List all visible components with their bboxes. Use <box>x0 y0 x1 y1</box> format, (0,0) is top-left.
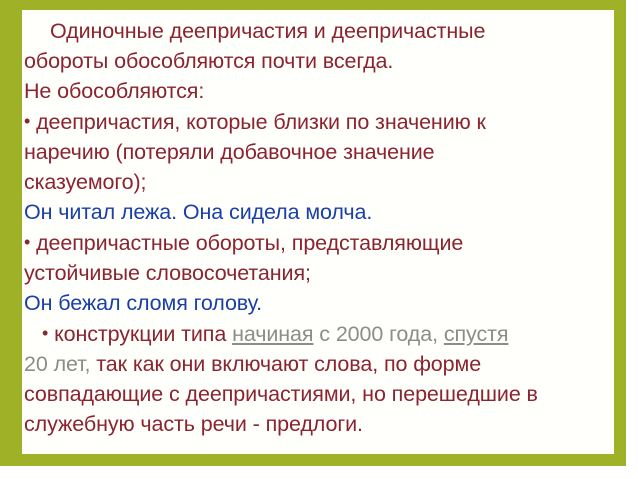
text-line-10-example: Он бежал сломя голову. <box>24 288 608 318</box>
text-line-4-bullet: • деепричастия, которые близки по значен… <box>24 106 608 137</box>
text-line-11-bullet: • конструкции типа начиная с 2000 года, … <box>24 318 608 349</box>
text-line-8-label: деепричастные обороты, представляющие <box>36 231 463 255</box>
term-20-let: 20 лет, <box>24 352 90 376</box>
slide: Одиночные деепричастия и деепричастные о… <box>0 0 638 479</box>
text-line-4-label: деепричастия, которые близки по значению… <box>36 110 486 134</box>
text-line-2: обороты обособляются почти всегда. <box>24 46 608 76</box>
bullet-glyph-2: • <box>24 232 30 252</box>
text-line-13: совпадающие с деепричастиями, но перешед… <box>24 379 608 409</box>
text-line-11-label: конструкции типа <box>54 322 226 346</box>
content-panel: Одиночные деепричастия и деепричастные о… <box>22 10 614 454</box>
text-line-8-bullet: • деепричастные обороты, представляющие <box>24 227 608 258</box>
text-line-14: служебную часть речи - предлоги. <box>24 409 608 439</box>
text-line-3-heading: Не обособляются: <box>24 76 608 106</box>
text-line-12-label: так как они включают слова, по форме <box>96 352 481 376</box>
text-line-9: устойчивые словосочетания; <box>24 258 608 288</box>
green-frame-border: Одиночные деепричастия и деепричастные о… <box>0 0 626 466</box>
text-line-5: наречию (потеряли добавочное значение <box>24 137 608 167</box>
text-line-6: сказуемого); <box>24 167 608 197</box>
term-s-2000-goda: с 2000 года, <box>319 322 438 346</box>
text-line-12: 20 лет, так как они включают слова, по ф… <box>24 349 608 379</box>
text-line-7-example: Он читал лежа. Она сидела молча. <box>24 197 608 227</box>
term-spustya: спустя <box>444 322 509 346</box>
bullet-glyph-1: • <box>24 111 30 131</box>
bullet-glyph-3: • <box>42 323 48 343</box>
text-content: Одиночные деепричастия и деепричастные о… <box>22 16 614 439</box>
term-nachinaya: начиная <box>232 322 313 346</box>
text-line-1: Одиночные деепричастия и деепричастные <box>24 16 608 46</box>
